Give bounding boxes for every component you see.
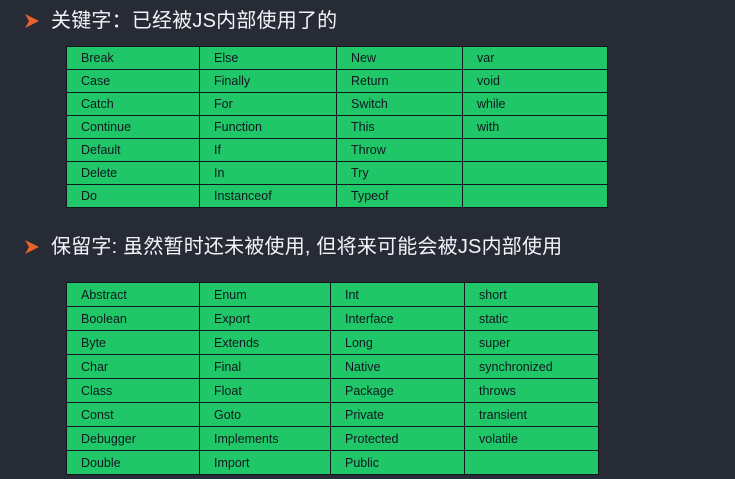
table-row: Do Instanceof Typeof <box>67 185 608 208</box>
table-cell: Catch <box>67 93 200 116</box>
arrow-right-icon <box>22 11 42 31</box>
table-cell: Char <box>67 355 200 379</box>
table-cell: Int <box>331 283 465 307</box>
table-cell: Interface <box>331 307 465 331</box>
table-row: Delete In Try <box>67 162 608 185</box>
table-cell: Public <box>331 451 465 475</box>
table-cell: Function <box>200 116 337 139</box>
slide-canvas: 关键字：已经被JS内部使用了的 Break Else New var Case … <box>0 0 735 479</box>
table-cell: short <box>465 283 599 307</box>
table-cell: Long <box>331 331 465 355</box>
table-cell: Instanceof <box>200 185 337 208</box>
table-cell: Delete <box>67 162 200 185</box>
table-cell: This <box>337 116 463 139</box>
table-row: Const Goto Private transient <box>67 403 599 427</box>
table-cell: Float <box>200 379 331 403</box>
table-cell-empty <box>463 185 608 208</box>
table-cell: Goto <box>200 403 331 427</box>
table-cell-empty <box>463 139 608 162</box>
keywords-table: Break Else New var Case Finally Return v… <box>66 46 608 208</box>
table-row: Debugger Implements Protected volatile <box>67 427 599 451</box>
table-cell: Throw <box>337 139 463 162</box>
table-cell: Implements <box>200 427 331 451</box>
heading-keywords-label: 关键字：已经被JS内部使用了的 <box>51 8 337 34</box>
table-cell: void <box>463 70 608 93</box>
table-cell: Import <box>200 451 331 475</box>
reserved-words-table: Abstract Enum Int short Boolean Export I… <box>66 282 599 475</box>
table-row: Byte Extends Long super <box>67 331 599 355</box>
table-row: Default If Throw <box>67 139 608 162</box>
table-cell: Private <box>331 403 465 427</box>
table-cell: Abstract <box>67 283 200 307</box>
table-row: Double Import Public <box>67 451 599 475</box>
table-cell: For <box>200 93 337 116</box>
table-cell: Return <box>337 70 463 93</box>
table-cell: with <box>463 116 608 139</box>
heading-reserved: 保留字: 虽然暂时还未被使用, 但将来可能会被JS内部使用 <box>22 234 562 260</box>
table-cell: transient <box>465 403 599 427</box>
table-cell: static <box>465 307 599 331</box>
heading-reserved-label: 保留字: 虽然暂时还未被使用, 但将来可能会被JS内部使用 <box>51 234 562 260</box>
table-cell: Final <box>200 355 331 379</box>
table-cell: super <box>465 331 599 355</box>
table-cell-empty <box>463 162 608 185</box>
table-cell: volatile <box>465 427 599 451</box>
table-cell: throws <box>465 379 599 403</box>
table-cell: If <box>200 139 337 162</box>
table-row: Break Else New var <box>67 47 608 70</box>
table-cell: Switch <box>337 93 463 116</box>
table-cell: Try <box>337 162 463 185</box>
table-row: Continue Function This with <box>67 116 608 139</box>
table-cell: Do <box>67 185 200 208</box>
table-cell: var <box>463 47 608 70</box>
table-row: Catch For Switch while <box>67 93 608 116</box>
table-cell: Export <box>200 307 331 331</box>
table-cell: Package <box>331 379 465 403</box>
table-cell: Typeof <box>337 185 463 208</box>
table-cell: Enum <box>200 283 331 307</box>
arrow-right-icon <box>22 237 42 257</box>
table-cell-empty <box>465 451 599 475</box>
table-cell: Break <box>67 47 200 70</box>
table-cell: Const <box>67 403 200 427</box>
table-row: Boolean Export Interface static <box>67 307 599 331</box>
table-row: Case Finally Return void <box>67 70 608 93</box>
table-cell: Case <box>67 70 200 93</box>
table-cell: Native <box>331 355 465 379</box>
table-cell: Protected <box>331 427 465 451</box>
table-cell: while <box>463 93 608 116</box>
table-cell: Boolean <box>67 307 200 331</box>
table-cell: Class <box>67 379 200 403</box>
table-row: Class Float Package throws <box>67 379 599 403</box>
table-cell: Debugger <box>67 427 200 451</box>
table-cell: synchronized <box>465 355 599 379</box>
table-row: Abstract Enum Int short <box>67 283 599 307</box>
table-cell: In <box>200 162 337 185</box>
table-cell: Byte <box>67 331 200 355</box>
table-cell: Finally <box>200 70 337 93</box>
table-cell: New <box>337 47 463 70</box>
table-cell: Else <box>200 47 337 70</box>
heading-keywords: 关键字：已经被JS内部使用了的 <box>22 8 337 34</box>
table-cell: Double <box>67 451 200 475</box>
table-cell: Extends <box>200 331 331 355</box>
table-row: Char Final Native synchronized <box>67 355 599 379</box>
table-cell: Continue <box>67 116 200 139</box>
table-cell: Default <box>67 139 200 162</box>
